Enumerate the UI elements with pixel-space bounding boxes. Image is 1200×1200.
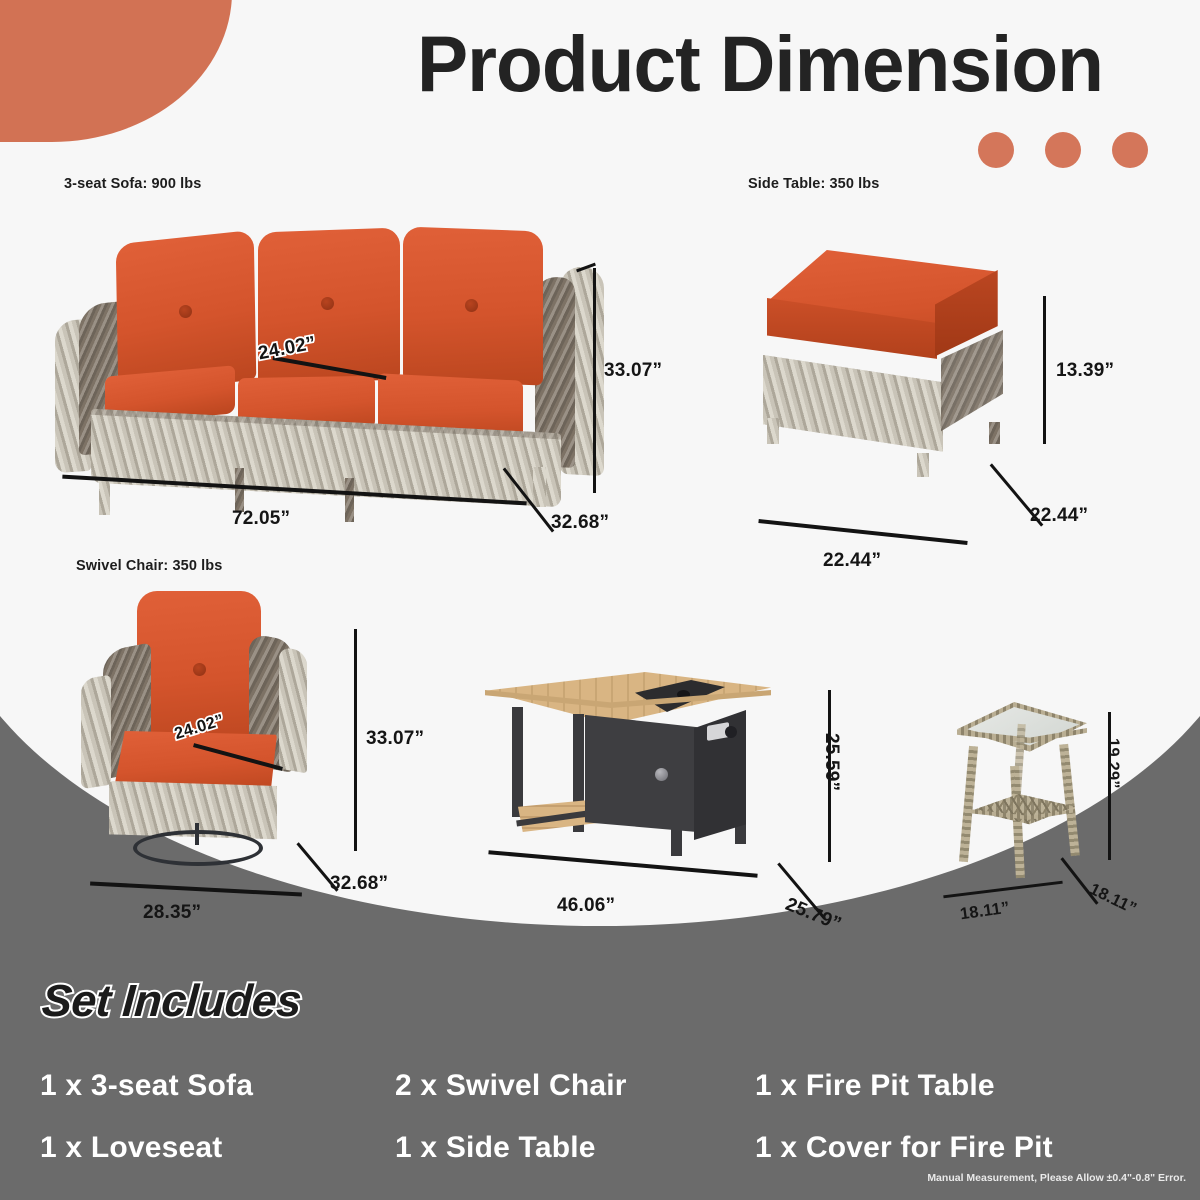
sofa-height-leader — [593, 268, 596, 493]
ottoman-caption: Side Table: 350 lbs — [748, 176, 879, 192]
ottoman-depth-label: 22.44” — [1030, 505, 1088, 527]
dot-icon-2 — [1045, 132, 1081, 168]
ottoman-height-label: 13.39” — [1056, 360, 1114, 382]
corner-accent-shape — [0, 0, 232, 142]
firepit-height-label: 25.59” — [820, 733, 842, 791]
list-item: 1 x Cover for Fire Pit — [755, 1131, 1170, 1165]
list-item: 1 x Fire Pit Table — [755, 1069, 1170, 1103]
chair-height-label: 33.07” — [366, 728, 424, 750]
fire-pit-table-illustration — [485, 662, 815, 877]
sidetable-height-label: 19.29” — [1103, 738, 1122, 789]
list-item: 1 x Side Table — [395, 1131, 755, 1165]
ottoman-width-label: 22.44” — [823, 550, 881, 572]
sofa-width-label: 72.05” — [232, 508, 290, 530]
sofa-caption: 3-seat Sofa: 900 lbs — [64, 176, 201, 192]
dot-icon-1 — [978, 132, 1014, 168]
chair-depth-label: 32.68” — [330, 873, 388, 895]
set-includes-list: 1 x 3-seat Sofa 2 x Swivel Chair 1 x Fir… — [40, 1055, 1170, 1179]
firepit-width-label: 46.06” — [557, 895, 615, 917]
page-title: Product Dimension — [343, 16, 1177, 112]
measurement-disclaimer: Manual Measurement, Please Allow ±0.4"-0… — [927, 1172, 1186, 1184]
set-includes-title: Set Includes — [40, 975, 303, 1027]
ottoman-illustration — [745, 250, 1045, 485]
chair-width-label: 28.35” — [143, 902, 201, 924]
list-item: 2 x Swivel Chair — [395, 1069, 755, 1103]
list-item: 1 x 3-seat Sofa — [40, 1069, 395, 1103]
sofa-height-label: 33.07” — [604, 360, 662, 382]
decorative-dot-row — [978, 132, 1148, 168]
ottoman-width-leader — [758, 519, 967, 545]
sofa-depth-label: 32.68” — [551, 512, 609, 534]
ottoman-height-leader — [1043, 296, 1046, 444]
dot-icon-3 — [1112, 132, 1148, 168]
list-item: 1 x Loveseat — [40, 1131, 395, 1165]
chair-caption: Swivel Chair: 350 lbs — [76, 558, 222, 574]
chair-height-leader — [354, 629, 357, 851]
glass-side-table-illustration — [955, 700, 1105, 880]
sofa-illustration — [55, 225, 615, 490]
